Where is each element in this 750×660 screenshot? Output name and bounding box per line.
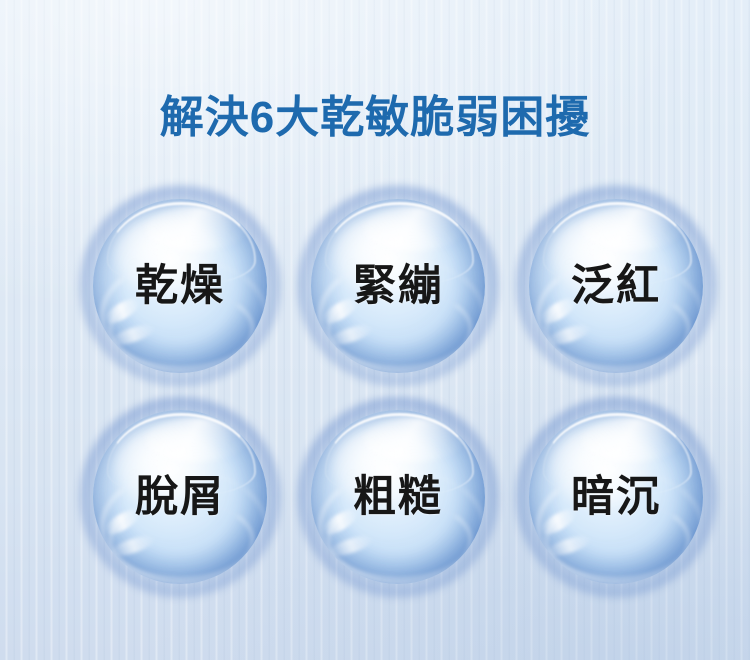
bubble-label: 緊繃 [311, 199, 485, 373]
bubble-label: 脫屑 [93, 410, 267, 584]
bubble-label: 乾燥 [93, 199, 267, 373]
bubble-item: 粗糙 [311, 410, 485, 584]
bubble-label: 粗糙 [311, 410, 485, 584]
bubble-label: 暗沉 [529, 410, 703, 584]
bubble-item: 暗沉 [529, 410, 703, 584]
bubble-label: 泛紅 [529, 199, 703, 373]
bubble-item: 乾燥 [93, 199, 267, 373]
bubble-grid: 乾燥 緊繃 [0, 0, 750, 660]
bubble-item: 泛紅 [529, 199, 703, 373]
skincare-concerns-poster: 解決6大乾敏脆弱困擾 乾燥 [0, 0, 750, 660]
bubble-item: 緊繃 [311, 199, 485, 373]
bubble-item: 脫屑 [93, 410, 267, 584]
